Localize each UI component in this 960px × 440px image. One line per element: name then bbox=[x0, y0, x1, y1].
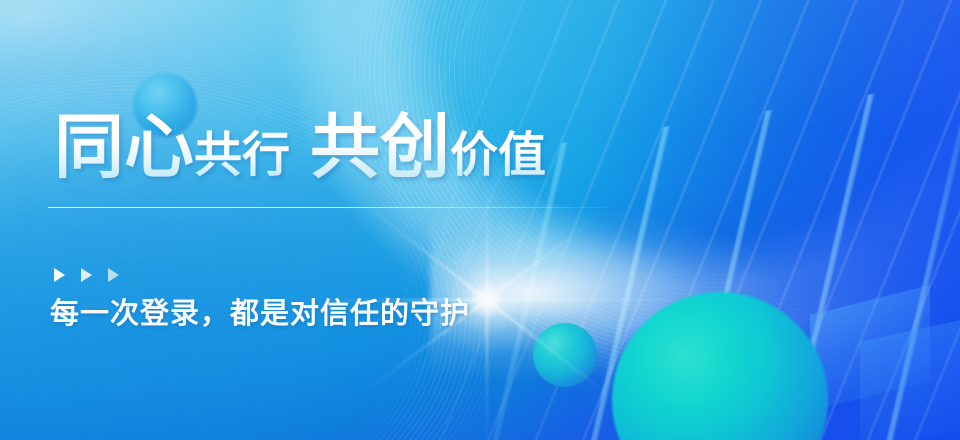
headline-segment-4: 价值 bbox=[450, 129, 546, 182]
play-arrow-icon-2 bbox=[81, 268, 92, 282]
headline-segment-2: 共行 bbox=[194, 129, 290, 182]
divider-rule bbox=[48, 207, 626, 208]
promo-banner: 同心共行共创价值 每一次登录，都是对信任的守护 bbox=[0, 0, 960, 440]
play-arrow-icon-1 bbox=[54, 268, 65, 282]
subtitle: 每一次登录，都是对信任的守护 bbox=[50, 290, 470, 332]
headline-segment-1: 同心 bbox=[54, 108, 194, 186]
banner-content: 同心共行共创价值 每一次登录，都是对信任的守护 bbox=[0, 0, 960, 440]
headline-segment-3: 共创 bbox=[310, 108, 450, 186]
arrow-marker-group bbox=[54, 268, 119, 282]
play-arrow-icon-3 bbox=[108, 268, 119, 282]
headline: 同心共行共创价值 bbox=[54, 112, 546, 182]
